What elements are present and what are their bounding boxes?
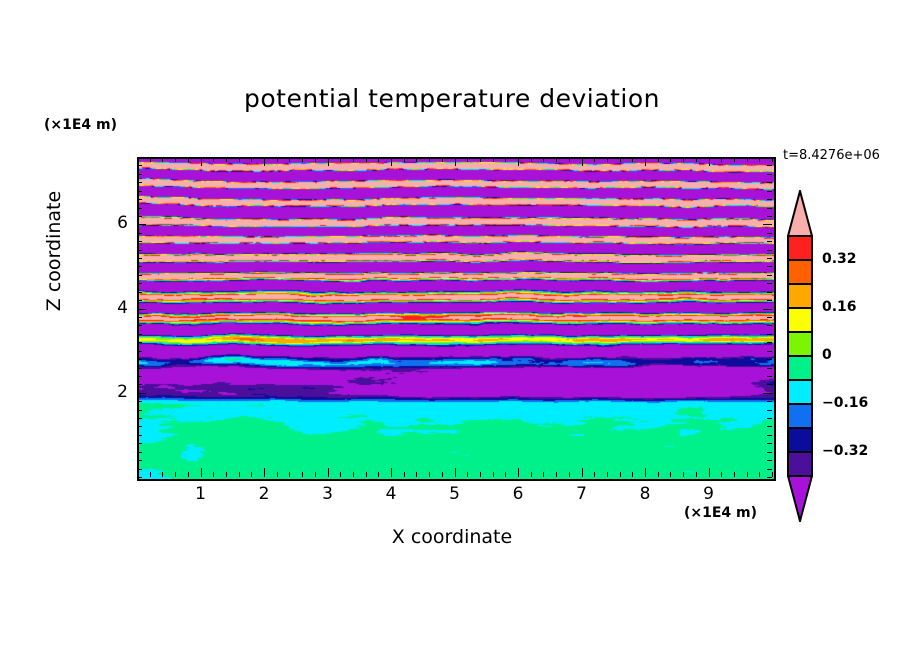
x-tick-label: 2 [244,484,284,504]
x-minor-tick [493,472,494,477]
x-minor-tick [366,472,367,477]
x-minor-tick-top [480,157,481,162]
y-minor-tick [137,342,142,343]
x-minor-tick-top [734,157,735,162]
colorbar-band [788,380,812,404]
x-major-tick [201,468,202,477]
x-minor-tick [632,472,633,477]
x-minor-tick [175,472,176,477]
x-major-tick [328,468,329,477]
x-minor-tick-top [353,157,354,162]
x-minor-tick-top [289,157,290,162]
x-axis-title-text: X coordinate [392,526,512,548]
y-minor-tick [137,250,142,251]
y-minor-tick [137,452,142,453]
colorbar-band [788,260,812,284]
x-tick-label: 9 [689,484,729,504]
colorbar-tick-label: −0.16 [822,395,868,411]
x-major-tick-top [264,157,265,166]
y-minor-tick-right [767,208,772,209]
y-minor-tick [137,460,142,461]
y-minor-tick [137,174,142,175]
x-minor-tick [226,472,227,477]
x-minor-tick-top [493,157,494,162]
x-minor-tick [162,472,163,477]
x-minor-tick-top [302,157,303,162]
colorbar-tick-label: 0.16 [822,299,857,315]
x-minor-tick [277,472,278,477]
y-minor-tick [137,199,142,200]
x-minor-tick-top [366,157,367,162]
x-minor-tick-top [556,157,557,162]
x-tick-label: 8 [625,484,665,504]
x-minor-tick [340,472,341,477]
y-minor-tick-right [767,174,772,175]
colorbar-band [788,452,812,476]
colorbar-band [788,236,812,260]
y-minor-tick-right [767,443,772,444]
x-minor-tick [378,472,379,477]
x-minor-tick [620,472,621,477]
y-minor-tick [137,410,142,411]
x-minor-tick [607,472,608,477]
x-minor-tick-top [683,157,684,162]
x-minor-tick-top [759,157,760,162]
x-minor-tick-top [162,157,163,162]
y-minor-tick-right [767,266,772,267]
x-minor-tick [416,472,417,477]
x-minor-tick [353,472,354,477]
y-minor-tick [137,443,142,444]
y-major-tick-right [763,393,772,394]
y-minor-tick-right [767,435,772,436]
timestamp-label: t=8.4276e+06 [783,148,880,163]
x-major-tick [518,468,519,477]
x-minor-tick-top [442,157,443,162]
y-minor-tick-right [767,460,772,461]
y-axis-unit-label: (×1E4 m) [44,117,117,133]
x-major-tick [709,468,710,477]
x-minor-tick-top [620,157,621,162]
x-tick-label: 4 [371,484,411,504]
x-tick-label: 5 [435,484,475,504]
y-minor-tick [137,325,142,326]
x-minor-tick-top [277,157,278,162]
y-minor-tick [137,182,142,183]
colorbar-band [788,332,812,356]
y-minor-tick [137,241,142,242]
x-major-tick-top [709,157,710,166]
x-minor-tick [696,472,697,477]
x-major-tick-top [582,157,583,166]
y-minor-tick-right [767,283,772,284]
y-minor-tick [137,317,142,318]
x-major-tick-top [645,157,646,166]
x-minor-tick-top [175,157,176,162]
y-minor-tick-right [767,241,772,242]
x-major-tick-top [328,157,329,166]
x-minor-tick [150,472,151,477]
y-minor-tick [137,266,142,267]
x-minor-tick [442,472,443,477]
colorbar-band [788,284,812,308]
y-minor-tick [137,283,142,284]
x-minor-tick-top [188,157,189,162]
x-minor-tick [683,472,684,477]
colorbar-over-cap [788,191,812,236]
y-minor-tick [137,401,142,402]
x-minor-tick-top [416,157,417,162]
x-minor-tick-top [251,157,252,162]
x-minor-tick-top [721,157,722,162]
x-minor-tick-top [772,157,773,162]
x-minor-tick [721,472,722,477]
x-minor-tick-top [569,157,570,162]
y-minor-tick [137,300,142,301]
y-major-tick-right [763,224,772,225]
y-minor-tick-right [767,342,772,343]
x-minor-tick [569,472,570,477]
x-major-tick [582,468,583,477]
x-minor-tick [429,472,430,477]
y-minor-tick [137,275,142,276]
y-minor-tick [137,469,142,470]
y-minor-tick-right [767,401,772,402]
y-minor-tick-right [767,359,772,360]
colorbar-tick-label: 0 [822,347,832,363]
x-minor-tick-top [239,157,240,162]
y-minor-tick-right [767,317,772,318]
y-minor-tick [137,208,142,209]
x-minor-tick-top [594,157,595,162]
x-tick-label: 7 [562,484,602,504]
x-minor-tick [759,472,760,477]
y-minor-tick [137,368,142,369]
y-minor-tick-right [767,233,772,234]
y-minor-tick [137,418,142,419]
x-major-tick [264,468,265,477]
x-tick-label: 3 [308,484,348,504]
y-minor-tick-right [767,334,772,335]
x-tick-label: 1 [181,484,221,504]
y-minor-tick-right [767,258,772,259]
x-minor-tick-top [404,157,405,162]
colorbar-swatches [787,190,813,522]
y-minor-tick-right [767,300,772,301]
y-minor-tick [137,334,142,335]
x-minor-tick [734,472,735,477]
x-minor-tick [543,472,544,477]
y-minor-tick [137,435,142,436]
x-minor-tick [188,472,189,477]
x-minor-tick-top [150,157,151,162]
x-minor-tick [772,472,773,477]
page-title-text: potential temperature deviation [244,84,660,113]
x-tick-label: 6 [498,484,538,504]
y-minor-tick [137,351,142,352]
x-minor-tick [213,472,214,477]
y-minor-tick [137,426,142,427]
colorbar-tick-label: 0.32 [822,251,857,267]
x-minor-tick-top [543,157,544,162]
y-minor-tick [137,157,142,158]
y-tick-label: 4 [106,298,128,318]
y-minor-tick [137,292,142,293]
x-minor-tick [404,472,405,477]
x-minor-tick-top [213,157,214,162]
y-minor-tick [137,376,142,377]
y-minor-tick [137,216,142,217]
y-minor-tick-right [767,191,772,192]
contour-plot-area [137,157,776,481]
y-axis-title: Z coordinate [43,151,65,351]
x-major-tick-top [518,157,519,166]
x-axis-title: X coordinate [0,526,904,548]
x-major-tick-top [201,157,202,166]
colorbar-tick-label: −0.32 [822,443,868,459]
x-minor-tick [251,472,252,477]
x-minor-tick-top [670,157,671,162]
colorbar-band [788,428,812,452]
y-minor-tick-right [767,368,772,369]
y-minor-tick-right [767,384,772,385]
page-title: potential temperature deviation [0,84,904,113]
y-minor-tick-right [767,376,772,377]
y-minor-tick-right [767,165,772,166]
x-minor-tick [747,472,748,477]
y-minor-tick [137,477,142,478]
x-minor-tick [505,472,506,477]
y-minor-tick-right [767,216,772,217]
y-minor-tick [137,165,142,166]
x-minor-tick [670,472,671,477]
colorbar-band [788,356,812,380]
x-minor-tick-top [632,157,633,162]
y-minor-tick [137,191,142,192]
y-minor-tick-right [767,250,772,251]
y-minor-tick-right [767,292,772,293]
x-major-tick [645,468,646,477]
contour-field-canvas [139,159,774,479]
x-major-tick [455,468,456,477]
x-minor-tick-top [505,157,506,162]
y-major-tick-right [763,309,772,310]
y-minor-tick-right [767,275,772,276]
x-minor-tick-top [747,157,748,162]
y-minor-tick [137,359,142,360]
y-minor-tick-right [767,182,772,183]
x-minor-tick-top [658,157,659,162]
y-minor-tick [137,233,142,234]
x-minor-tick-top [607,157,608,162]
y-major-tick [137,224,146,225]
y-minor-tick [137,258,142,259]
x-minor-tick [531,472,532,477]
y-minor-tick-right [767,351,772,352]
y-minor-tick-right [767,199,772,200]
x-axis-unit-label: (×1E4 m) [684,505,757,521]
x-minor-tick-top [315,157,316,162]
x-minor-tick-top [226,157,227,162]
y-minor-tick-right [767,452,772,453]
y-major-tick [137,393,146,394]
x-minor-tick-top [696,157,697,162]
x-minor-tick [480,472,481,477]
x-minor-tick-top [429,157,430,162]
x-major-tick-top [455,157,456,166]
y-minor-tick-right [767,469,772,470]
y-minor-tick-right [767,418,772,419]
colorbar-under-cap [788,476,812,521]
colorbar-band [788,308,812,332]
x-minor-tick [315,472,316,477]
colorbar-band [788,404,812,428]
x-minor-tick-top [467,157,468,162]
y-minor-tick-right [767,157,772,158]
x-minor-tick [658,472,659,477]
y-minor-tick-right [767,426,772,427]
x-minor-tick-top [340,157,341,162]
x-minor-tick-top [531,157,532,162]
x-minor-tick [594,472,595,477]
y-major-tick [137,309,146,310]
x-minor-tick-top [378,157,379,162]
x-minor-tick [289,472,290,477]
y-minor-tick-right [767,477,772,478]
x-minor-tick [302,472,303,477]
x-major-tick [391,468,392,477]
colorbar [787,190,813,522]
y-minor-tick-right [767,325,772,326]
y-tick-label: 6 [106,213,128,233]
x-major-tick-top [391,157,392,166]
y-minor-tick [137,384,142,385]
x-minor-tick [467,472,468,477]
y-minor-tick-right [767,410,772,411]
y-tick-label: 2 [106,382,128,402]
x-minor-tick [556,472,557,477]
x-minor-tick [239,472,240,477]
